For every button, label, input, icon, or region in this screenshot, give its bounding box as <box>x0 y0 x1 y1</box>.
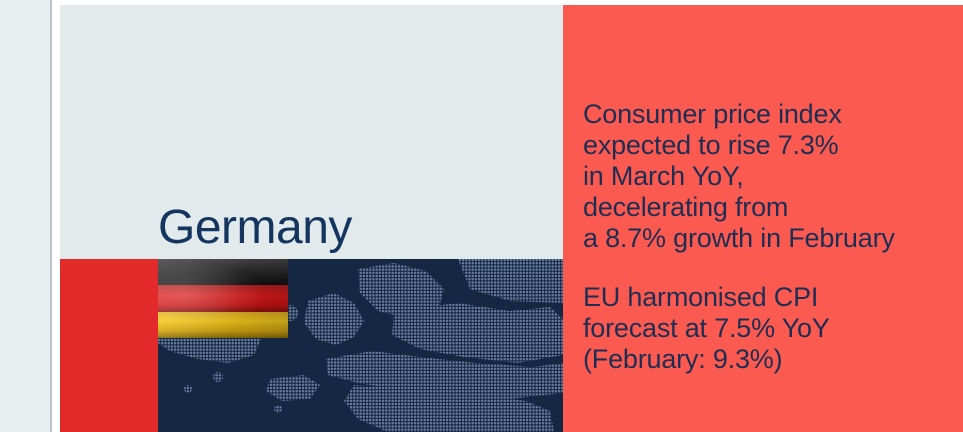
page-gutter <box>0 0 51 432</box>
summary-text: Consumer price index expected to rise 7.… <box>583 99 955 375</box>
flag-band-black <box>158 259 288 285</box>
title-panel: Germany <box>60 5 563 259</box>
summary-paragraph-2: EU harmonised CPI forecast at 7.5% YoY (… <box>583 282 955 375</box>
gutter-gap <box>52 0 60 432</box>
summary-panel: Consumer price index expected to rise 7.… <box>563 5 963 432</box>
flag-band-red <box>158 285 288 311</box>
accent-red-block <box>60 259 158 432</box>
slide-canvas: Germany <box>60 5 963 432</box>
summary-paragraph-1: Consumer price index expected to rise 7.… <box>583 99 955 254</box>
page-title: Germany <box>158 204 352 252</box>
flag-band-gold <box>158 312 288 338</box>
germany-flag <box>158 259 288 338</box>
